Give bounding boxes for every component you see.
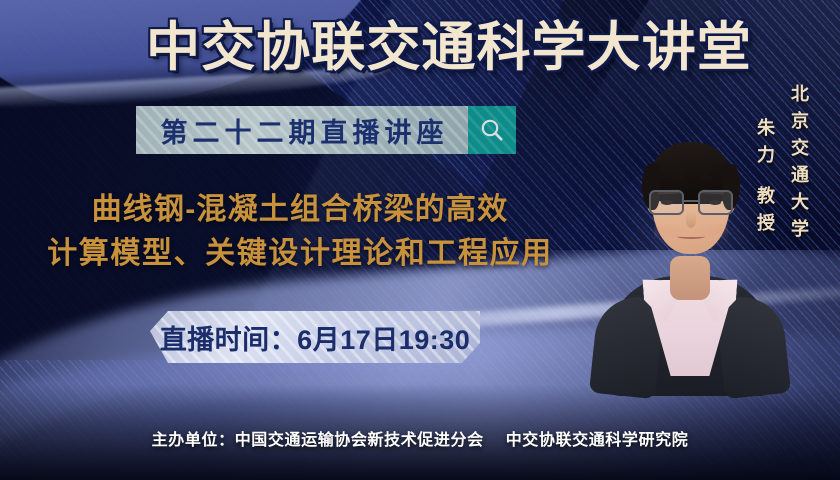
session-banner-label: 第二十二期直播讲座 [156, 111, 449, 150]
footer-prefix: 主办单位： [152, 432, 235, 449]
speaker-organization: 北京交通大学 [786, 84, 812, 246]
speaker-name: 朱力 教授 [752, 118, 778, 240]
portrait-nose [686, 212, 696, 228]
portrait-mouth [677, 234, 705, 239]
session-banner: 第二十二期直播讲座 [136, 106, 468, 154]
search-button[interactable] [468, 106, 516, 154]
glasses-lens-left [649, 190, 684, 215]
footer-org-2: 中交协联交通科学研究院 [506, 432, 689, 449]
glasses-bridge [684, 200, 698, 202]
page-title: 中交协联交通科学大讲堂 [146, 18, 752, 78]
lecture-topic-line-2: 计算模型、关键设计理论和工程应用 [0, 232, 600, 276]
glasses-lens-right [698, 190, 733, 215]
footer-organizers: 主办单位：中国交通运输协会新技术促进分会中交协联交通科学研究院 [0, 426, 840, 450]
broadcast-time-label: 直播时间：6月17日19:30 [160, 318, 471, 357]
portrait-neck [670, 256, 710, 300]
footer-org-1: 中国交通运输协会新技术促进分会 [235, 432, 484, 449]
broadcast-time-banner: 直播时间：6月17日19:30 [150, 311, 480, 363]
lecture-topic: 曲线钢-混凝土组合桥梁的高效 计算模型、关键设计理论和工程应用 [0, 188, 600, 276]
livestream-poster: 中交协联交通科学大讲堂 第二十二期直播讲座 曲线钢-混凝土组合桥梁的高效 计算模… [0, 0, 840, 480]
lecture-topic-line-1: 曲线钢-混凝土组合桥梁的高效 [0, 188, 600, 232]
search-icon [479, 117, 505, 143]
